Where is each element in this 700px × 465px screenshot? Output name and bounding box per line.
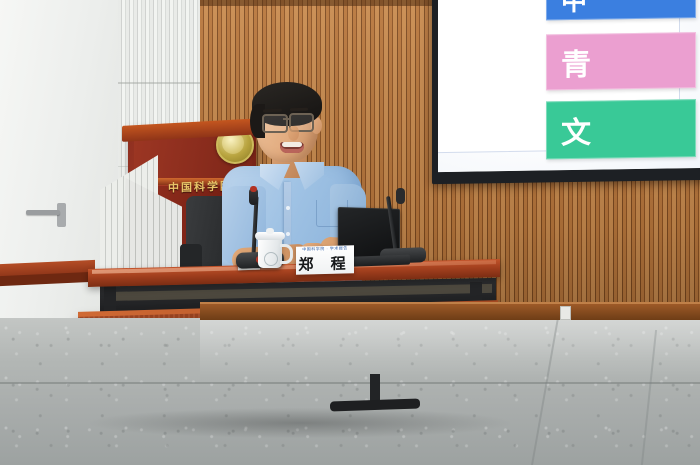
slide-chip-blue-label: 中 xyxy=(561,0,589,18)
photo-scene: 中 青 文 中国科学院 xyxy=(0,0,700,465)
shirt-button xyxy=(286,206,290,210)
teacup-emblem-icon xyxy=(264,252,278,266)
eyeglasses-bridge xyxy=(283,118,291,120)
slide-chip-blue: 中 xyxy=(546,0,696,20)
teacup-lid-knob xyxy=(266,228,274,234)
door-handle[interactable] xyxy=(26,210,60,215)
door-lock-plate xyxy=(57,203,66,227)
shirt-button xyxy=(286,232,290,236)
nameplate-name: 郑 程 xyxy=(298,252,351,274)
wall-power-outlet xyxy=(560,306,571,320)
projection-screen: 中 青 文 xyxy=(438,0,700,172)
microphone-indicator-icon xyxy=(250,186,257,192)
floor-tile-seam xyxy=(0,382,700,384)
presenter-eyebrow xyxy=(290,108,308,112)
wall-baseboard xyxy=(200,302,700,320)
slide-chip-pink-label: 青 xyxy=(561,40,593,85)
slide-chip-pink: 青 xyxy=(546,32,696,90)
floor-reflection xyxy=(200,318,700,378)
eyeglasses-lens xyxy=(262,114,288,133)
nameplate: 中国科学院 · 学术报告 郑 程 xyxy=(296,245,354,275)
nameplate-org-line: 中国科学院 · 学术报告 xyxy=(302,245,348,252)
presenter-teeth xyxy=(282,142,302,147)
presenter-nose xyxy=(288,126,299,141)
slide-chip-green-label: 文 xyxy=(561,108,593,153)
gooseneck-microphone-head xyxy=(396,188,405,204)
desk-floor-shadow xyxy=(90,408,510,438)
teacup-handle xyxy=(280,244,293,264)
slide-chip-green: 文 xyxy=(546,99,696,159)
